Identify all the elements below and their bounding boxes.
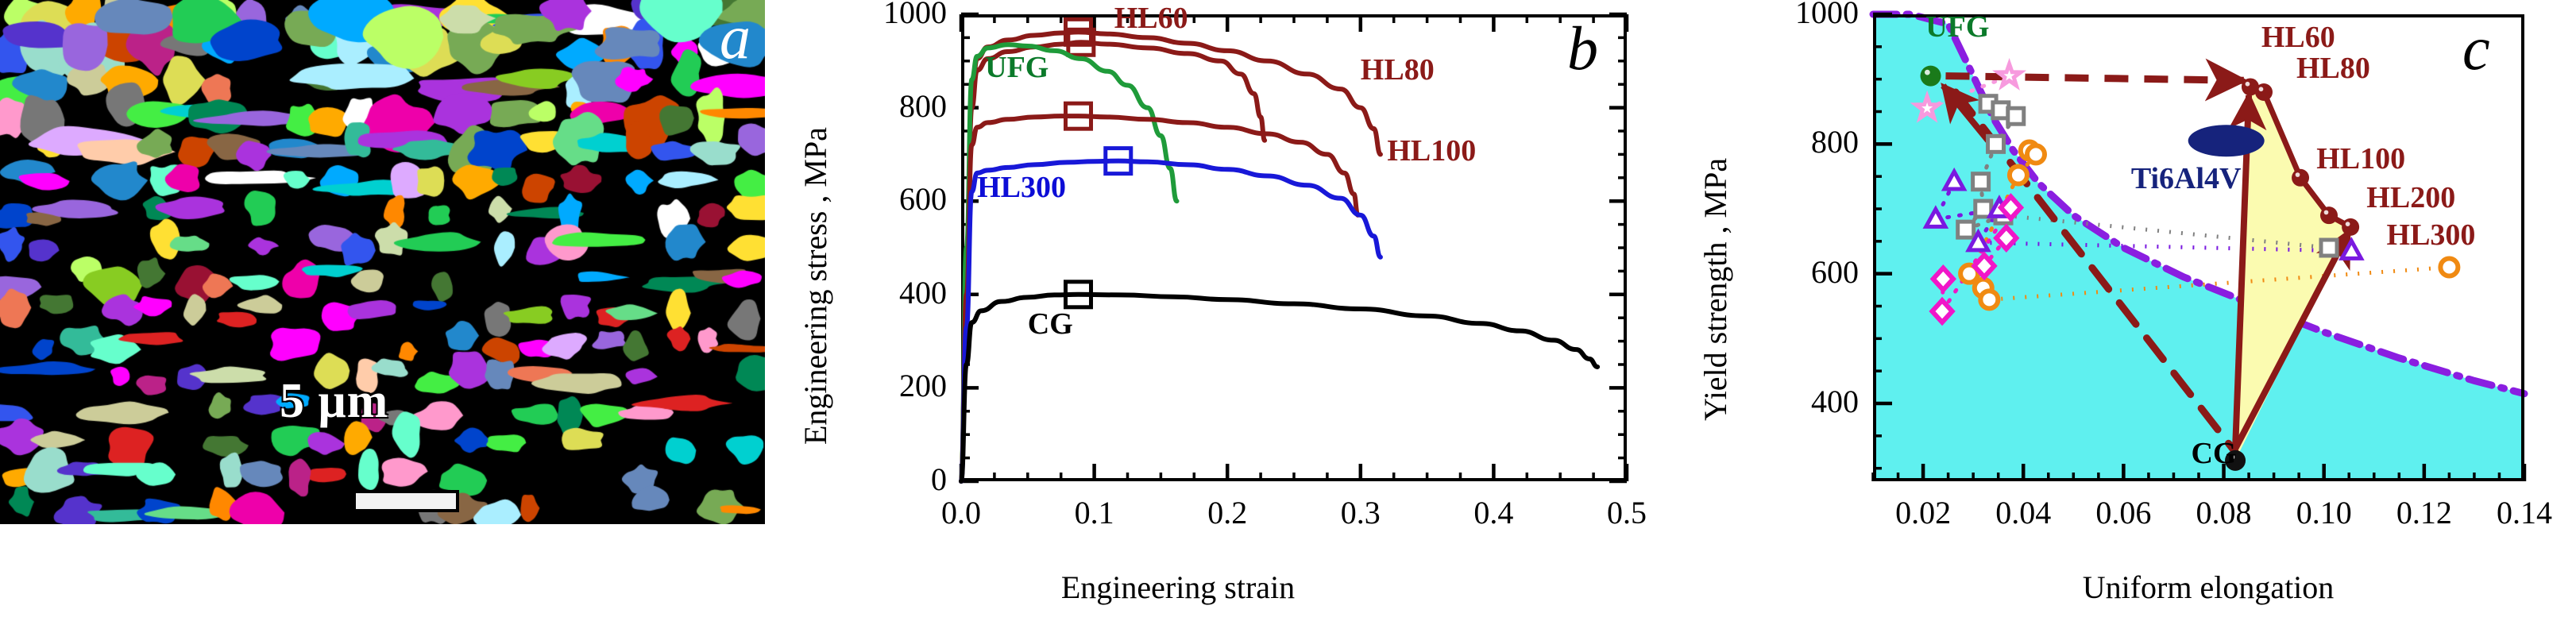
data-point-HL-series-2: [2292, 169, 2309, 187]
plot-c-y-axis-title: Yield strength , MPa: [1697, 158, 1734, 421]
panel-b-letter: b: [1567, 17, 1598, 79]
plot-c-annotation-hl300: HL300: [2387, 218, 2476, 253]
plot-c-y-tick-label: 600: [1811, 253, 1859, 291]
data-point-HL-series-1-highlight: [2259, 87, 2264, 91]
plot-b-y-tick-label: 0: [931, 461, 947, 498]
plot-b-curve-label: CG: [1028, 307, 1073, 341]
plot-b-y-tick-label: 400: [899, 274, 947, 311]
plot-b-curve-label: HL100: [1387, 133, 1476, 168]
plot-b-x-tick-label: 0.1: [1075, 494, 1114, 531]
plot-c-x-tick-label: 0.12: [2396, 494, 2452, 531]
plot-b-curve-label: HL60: [1114, 1, 1188, 36]
data-point-UFG-0: [1921, 66, 1941, 87]
plot-c-x-tick-label: 0.10: [2296, 494, 2352, 531]
plot-c-x-tick-label: 0.06: [2095, 494, 2151, 531]
data-point-lit-circles-5: [1980, 291, 1998, 308]
plot-b-content: [961, 14, 1627, 481]
panel-c-yield-elongation-chart: Yield strength , MPa Uniform elongation …: [1660, 0, 2576, 625]
arrow-ufg-to-hl60: [1945, 76, 2243, 81]
data-point-lit-squares-8: [2321, 240, 2337, 256]
plot-b-x-tick-label: 0.5: [1607, 494, 1647, 531]
ti6al4v-ellipse-marker: [2188, 125, 2265, 156]
panel-a-ebsd-map: a 5 μm: [0, 0, 765, 524]
plot-b-y-tick-label: 800: [899, 87, 947, 125]
plot-c-annotation-ti6al4v: Ti6Al4V: [2131, 161, 2242, 196]
plot-b-x-tick-label: 0.3: [1341, 494, 1381, 531]
data-point-HL-series-4: [2342, 218, 2359, 236]
plot-c-x-tick-label: 0.04: [1995, 494, 2051, 531]
plot-c-annotation-hl60: HL60: [2261, 20, 2335, 55]
curve-HL300: [961, 161, 1381, 481]
plot-c-annotation-hl100: HL100: [2316, 141, 2405, 176]
curve-HL80: [961, 42, 1265, 481]
data-point-HL-series-2-highlight: [2296, 172, 2300, 177]
plot-c-x-axis-title: Uniform elongation: [2083, 569, 2335, 606]
scale-bar-label: 5 μm: [280, 373, 388, 430]
scale-bar: [353, 490, 459, 512]
plot-b-y-tick-label: 200: [899, 367, 947, 404]
plot-c-x-tick-label: 0.02: [1895, 494, 1951, 531]
data-point-HL-series-3-highlight: [2324, 210, 2329, 215]
data-point-lit-stars-1: [1998, 64, 2021, 86]
ebsd-grain-map: [0, 0, 765, 524]
plot-b-y-axis-title: Engineering stress , MPa: [797, 127, 834, 445]
data-point-HL-series-1: [2255, 83, 2273, 101]
plot-c-annotation-cg: CG: [2192, 436, 2237, 471]
data-point-HL-series-3: [2320, 206, 2338, 224]
plot-c-y-tick-label: 1000: [1795, 0, 1859, 31]
plot-c-x-tick-label: 0.08: [2196, 494, 2252, 531]
panel-a-letter: a: [720, 6, 751, 68]
data-point-lit-squares-4: [1973, 174, 1989, 190]
data-point-lit-squares-3: [1988, 136, 2004, 152]
figure-root: a 5 μm Engineering stress , MPa Engineer…: [0, 0, 2576, 625]
plot-b-curve-label: UFG: [985, 50, 1049, 85]
curve-HL60: [961, 32, 1381, 481]
plot-c-x-tick-label: 0.14: [2497, 494, 2552, 531]
data-point-UFG-0-highlight: [1925, 70, 1930, 75]
plot-c-annotation-hl80: HL80: [2296, 51, 2370, 86]
plot-c-annotation-hl200: HL200: [2366, 180, 2455, 215]
data-point-HL-series-4-highlight: [2346, 222, 2350, 226]
data-point-lit-circles-2: [2010, 167, 2027, 184]
data-point-lit-circles-6: [2440, 259, 2458, 276]
plot-b-curve-label: HL80: [1361, 52, 1435, 87]
panel-b-stress-strain-chart: Engineering stress , MPa Engineering str…: [765, 0, 1660, 625]
panel-c-letter: c: [2462, 17, 2490, 79]
data-point-lit-squares-2: [2008, 108, 2024, 124]
curve-UFG: [961, 44, 1177, 481]
plot-b-y-tick-label: 600: [899, 180, 947, 218]
plot-b-curve-label: HL300: [977, 170, 1066, 205]
plot-b-x-tick-label: 0.2: [1207, 494, 1247, 531]
data-point-HL-series-0-highlight: [2246, 82, 2250, 87]
plot-c-y-tick-label: 800: [1811, 123, 1859, 160]
data-point-lit-squares-6: [1958, 222, 1974, 237]
plot-b-y-tick-label: 1000: [883, 0, 947, 31]
plot-c-annotation-ufg: UFG: [1925, 10, 1989, 44]
plot-b-x-axis-title: Engineering strain: [1061, 569, 1295, 606]
data-point-lit-circles-1: [2027, 145, 2045, 163]
plot-b-x-tick-label: 0.0: [941, 494, 981, 531]
plot-c-y-tick-label: 400: [1811, 383, 1859, 420]
plot-b-x-tick-label: 0.4: [1473, 494, 1513, 531]
